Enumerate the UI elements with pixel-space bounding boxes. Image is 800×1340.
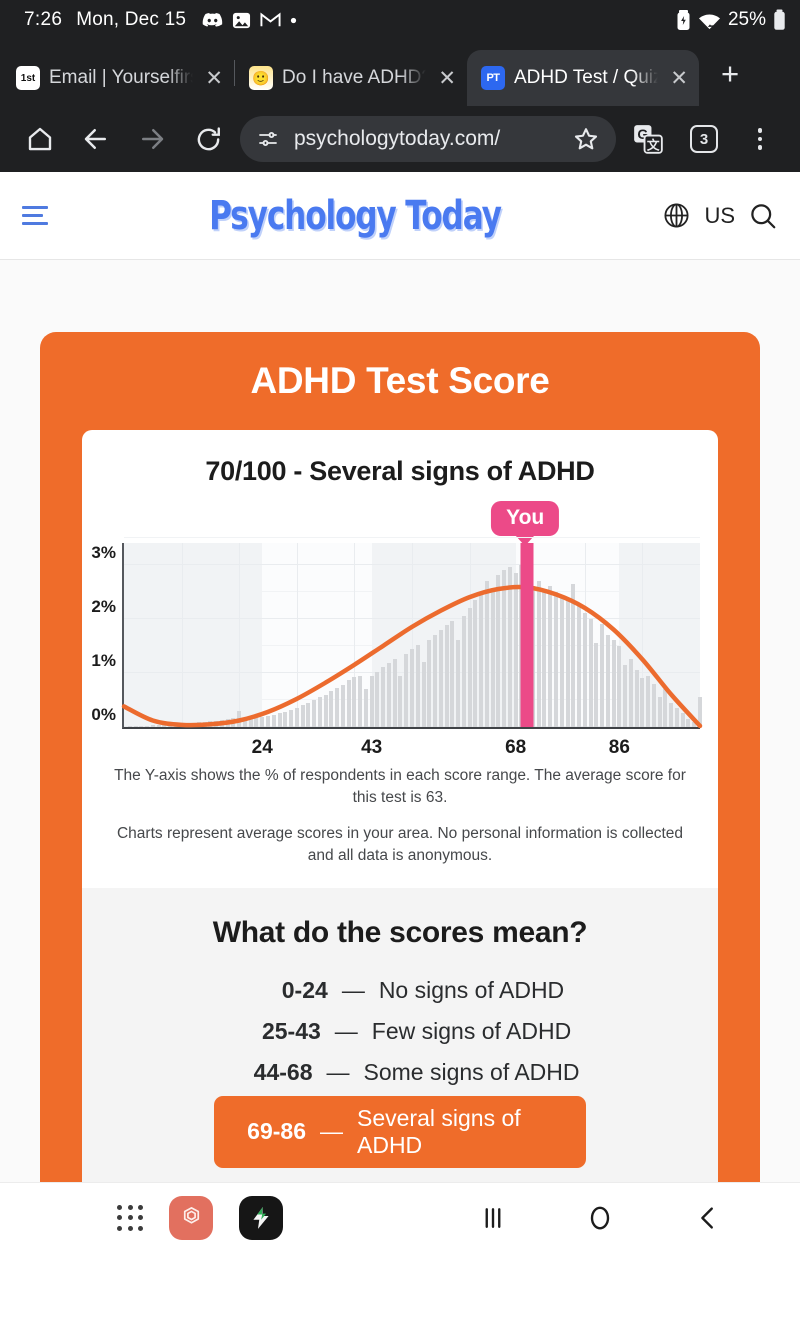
- openai-app-icon[interactable]: [169, 1196, 213, 1240]
- wifi-icon: [698, 11, 721, 30]
- region-label[interactable]: US: [704, 203, 735, 229]
- chart-x-tick-label: 24: [252, 737, 273, 759]
- score-summary: 70/100 - Several signs of ADHD: [82, 456, 718, 491]
- system-bottom-bar[interactable]: [0, 1182, 800, 1252]
- score-dash: —: [320, 1118, 343, 1145]
- score-range: 0-24: [236, 977, 328, 1004]
- url-text[interactable]: psychologytoday.com/: [294, 127, 558, 151]
- home-icon[interactable]: [12, 111, 68, 167]
- score-range-row: 69-86—Several signs of ADHD: [214, 1096, 586, 1168]
- back-icon[interactable]: [693, 1203, 723, 1233]
- android-nav-keys[interactable]: [400, 1203, 800, 1233]
- score-dash: —: [326, 1059, 349, 1086]
- battery-icon: [773, 9, 786, 31]
- psychology-today-logo[interactable]: Psychology Today: [209, 193, 501, 239]
- status-date: Mon, Dec 15: [76, 9, 186, 31]
- site-header: Psychology Today US: [0, 172, 800, 260]
- score-range-row: 25-43—Few signs of ADHD: [82, 1011, 718, 1052]
- tab-close-icon[interactable]: ✕: [435, 66, 459, 91]
- tab-switcher-icon[interactable]: 3: [676, 111, 732, 167]
- score-range-row: 44-68—Some signs of ADHD: [82, 1052, 718, 1093]
- browser-tab-0[interactable]: 1st Email | Yourselfirst ✕: [2, 50, 234, 106]
- bookmark-star-icon[interactable]: [572, 125, 600, 153]
- site-logo-wrap[interactable]: Psychology Today: [48, 193, 662, 239]
- score-range: 87-100: [222, 1178, 314, 1182]
- battery-saver-icon: [676, 9, 691, 31]
- discord-icon: [202, 12, 223, 28]
- gallery-icon: [232, 11, 251, 30]
- status-time: 7:26: [24, 9, 62, 31]
- overflow-menu-icon[interactable]: [732, 111, 788, 167]
- chart-plot-area: 0%1%2%3%24436886: [122, 543, 700, 729]
- tab-title: ADHD Test / Quiz S: [514, 67, 658, 89]
- browser-toolbar[interactable]: psychologytoday.com/ G文 3: [0, 106, 800, 172]
- score-range-row: 87-100—Many signs of ADHD: [82, 1171, 718, 1182]
- favicon-1st-icon: 1st: [16, 66, 40, 90]
- page-title: ADHD Test Score: [40, 360, 760, 430]
- chart-distribution-curve: [124, 543, 700, 727]
- home-icon[interactable]: [585, 1203, 615, 1233]
- chart-note-secondary: Charts represent average scores in your …: [82, 810, 718, 888]
- chart-x-tick-label: 68: [505, 737, 526, 759]
- back-icon[interactable]: [68, 111, 124, 167]
- three-dots: [758, 128, 763, 150]
- favicon-emoji-icon: 🙂: [249, 66, 273, 90]
- app-grid-icon[interactable]: [117, 1205, 143, 1231]
- you-marker-bar: [521, 543, 534, 727]
- gmail-icon: [260, 12, 281, 28]
- dock-apps[interactable]: [0, 1196, 400, 1240]
- you-marker-label: You: [491, 501, 559, 536]
- tab-title: Email | Yourselfirst: [49, 67, 193, 89]
- translate-icon[interactable]: G文: [620, 111, 676, 167]
- score-range: 69-86: [214, 1118, 306, 1145]
- browser-tab-1[interactable]: 🙂 Do I have ADHD? T ✕: [235, 50, 467, 106]
- browser-tab-2-active[interactable]: PT ADHD Test / Quiz S ✕: [467, 50, 699, 106]
- search-icon[interactable]: [748, 201, 778, 231]
- dot-icon: [290, 17, 297, 24]
- score-rows: 0-24—No signs of ADHD25-43—Few signs of …: [82, 970, 718, 1182]
- tab-close-icon[interactable]: ✕: [667, 66, 691, 91]
- score-dash: —: [342, 977, 365, 1004]
- recents-icon[interactable]: [478, 1203, 508, 1233]
- score-dash: —: [335, 1018, 358, 1045]
- score-dash: —: [328, 1178, 351, 1182]
- chart-y-tick-label: 2%: [91, 597, 116, 617]
- header-actions[interactable]: US: [662, 201, 778, 231]
- chart-x-tick-label: 86: [609, 737, 630, 759]
- score-label: No signs of ADHD: [379, 977, 564, 1004]
- page-info-icon[interactable]: [256, 127, 280, 151]
- bolt-app-icon[interactable]: [239, 1196, 283, 1240]
- address-bar[interactable]: psychologytoday.com/: [240, 116, 616, 162]
- score-range: 44-68: [220, 1059, 312, 1086]
- new-tab-button[interactable]: +: [699, 56, 759, 106]
- chart-x-tick-label: 43: [361, 737, 382, 759]
- globe-icon[interactable]: [662, 201, 691, 230]
- score-range-row: 0-24—No signs of ADHD: [82, 970, 718, 1011]
- tab-strip[interactable]: 1st Email | Yourselfirst ✕ 🙂 Do I have A…: [0, 40, 800, 106]
- status-right: 25%: [676, 9, 786, 31]
- score-range: 25-43: [229, 1018, 321, 1045]
- score-label: Some signs of ADHD: [363, 1059, 579, 1086]
- score-distribution-chart: You 0%1%2%3%24436886: [100, 501, 700, 761]
- chart-note-primary: The Y-axis shows the % of respondents in…: [82, 761, 718, 810]
- tab-count: 3: [690, 125, 718, 153]
- forward-icon[interactable]: [124, 111, 180, 167]
- reload-icon[interactable]: [180, 111, 236, 167]
- notification-icons: [202, 11, 297, 30]
- chart-y-tick-label: 1%: [91, 651, 116, 671]
- tab-close-icon[interactable]: ✕: [202, 66, 226, 91]
- score-label: Many signs of ADHD: [365, 1178, 577, 1182]
- web-page: Psychology Today US Self Tests>Health>AD…: [0, 172, 800, 1182]
- favicon-pt-icon: PT: [481, 66, 505, 90]
- tab-title: Do I have ADHD? T: [282, 67, 426, 89]
- status-bar: 7:26 Mon, Dec 15 25%: [0, 0, 800, 40]
- svg-text:文: 文: [647, 137, 660, 152]
- scores-meaning-section: What do the scores mean? 0-24—No signs o…: [82, 888, 718, 1182]
- battery-percent: 25%: [728, 9, 766, 31]
- score-panel: 70/100 - Several signs of ADHD You 0%1%2…: [82, 430, 718, 888]
- result-card: ADHD Test Score 70/100 - Several signs o…: [40, 332, 760, 1182]
- chart-gridline-h: [124, 537, 700, 538]
- chart-y-tick-label: 0%: [91, 705, 116, 725]
- score-label: Few signs of ADHD: [372, 1018, 571, 1045]
- scores-meaning-heading: What do the scores mean?: [82, 916, 718, 970]
- chart-y-tick-label: 3%: [91, 543, 116, 563]
- score-label: Several signs of ADHD: [357, 1105, 586, 1159]
- hamburger-menu-icon[interactable]: [22, 206, 48, 225]
